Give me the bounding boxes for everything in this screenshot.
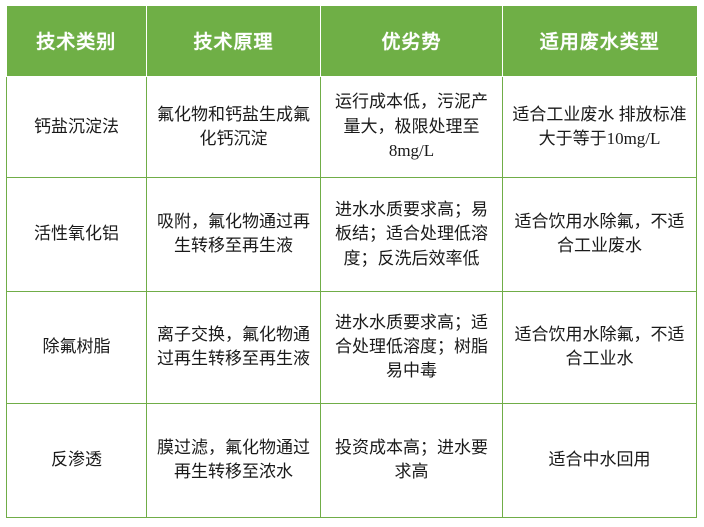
column-header-wastewater: 适用废水类型 [503, 6, 697, 76]
cell-category: 反渗透 [7, 403, 147, 517]
column-header-principle: 技术原理 [147, 6, 321, 76]
cell-principle: 吸附，氟化物通过再生转移至再生液 [147, 177, 321, 291]
cell-pros-cons: 运行成本低，污泥产量大，极限处理至8mg/L [321, 76, 503, 177]
table-row: 钙盐沉淀法 氟化物和钙盐生成氟化钙沉淀 运行成本低，污泥产量大，极限处理至8mg… [7, 76, 697, 177]
cell-wastewater: 适合饮用水除氟，不适合工业水 [503, 292, 697, 403]
cell-wastewater: 适合工业废水 排放标准大于等于10mg/L [503, 76, 697, 177]
table-row: 除氟树脂 离子交换，氟化物通过再生转移至再生液 进水水质要求高；适合处理低溶度；… [7, 292, 697, 403]
table-body: 钙盐沉淀法 氟化物和钙盐生成氟化钙沉淀 运行成本低，污泥产量大，极限处理至8mg… [7, 76, 697, 518]
column-header-category: 技术类别 [7, 6, 147, 76]
cell-principle: 膜过滤，氟化物通过再生转移至浓水 [147, 403, 321, 517]
fluoride-removal-technology-table: 技术类别 技术原理 优劣势 适用废水类型 钙盐沉淀法 氟化物和钙盐生成氟化钙沉淀… [6, 6, 697, 518]
cell-wastewater: 适合饮用水除氟，不适合工业废水 [503, 177, 697, 291]
cell-category: 除氟树脂 [7, 292, 147, 403]
cell-pros-cons: 进水水质要求高；适合处理低溶度；树脂易中毒 [321, 292, 503, 403]
cell-principle: 氟化物和钙盐生成氟化钙沉淀 [147, 76, 321, 177]
cell-wastewater: 适合中水回用 [503, 403, 697, 517]
cell-principle: 离子交换，氟化物通过再生转移至再生液 [147, 292, 321, 403]
column-header-pros-cons: 优劣势 [321, 6, 503, 76]
table-header: 技术类别 技术原理 优劣势 适用废水类型 [7, 6, 697, 76]
table-row: 反渗透 膜过滤，氟化物通过再生转移至浓水 投资成本高；进水要求高 适合中水回用 [7, 403, 697, 517]
cell-pros-cons: 投资成本高；进水要求高 [321, 403, 503, 517]
cell-pros-cons: 进水水质要求高；易板结；适合处理低溶度；反洗后效率低 [321, 177, 503, 291]
table-row: 活性氧化铝 吸附，氟化物通过再生转移至再生液 进水水质要求高；易板结；适合处理低… [7, 177, 697, 291]
table-header-row: 技术类别 技术原理 优劣势 适用废水类型 [7, 6, 697, 76]
comparison-table-container: 技术类别 技术原理 优劣势 适用废水类型 钙盐沉淀法 氟化物和钙盐生成氟化钙沉淀… [6, 6, 696, 519]
cell-category: 活性氧化铝 [7, 177, 147, 291]
cell-category: 钙盐沉淀法 [7, 76, 147, 177]
page-root: 技术类别 技术原理 优劣势 适用废水类型 钙盐沉淀法 氟化物和钙盐生成氟化钙沉淀… [0, 0, 704, 527]
